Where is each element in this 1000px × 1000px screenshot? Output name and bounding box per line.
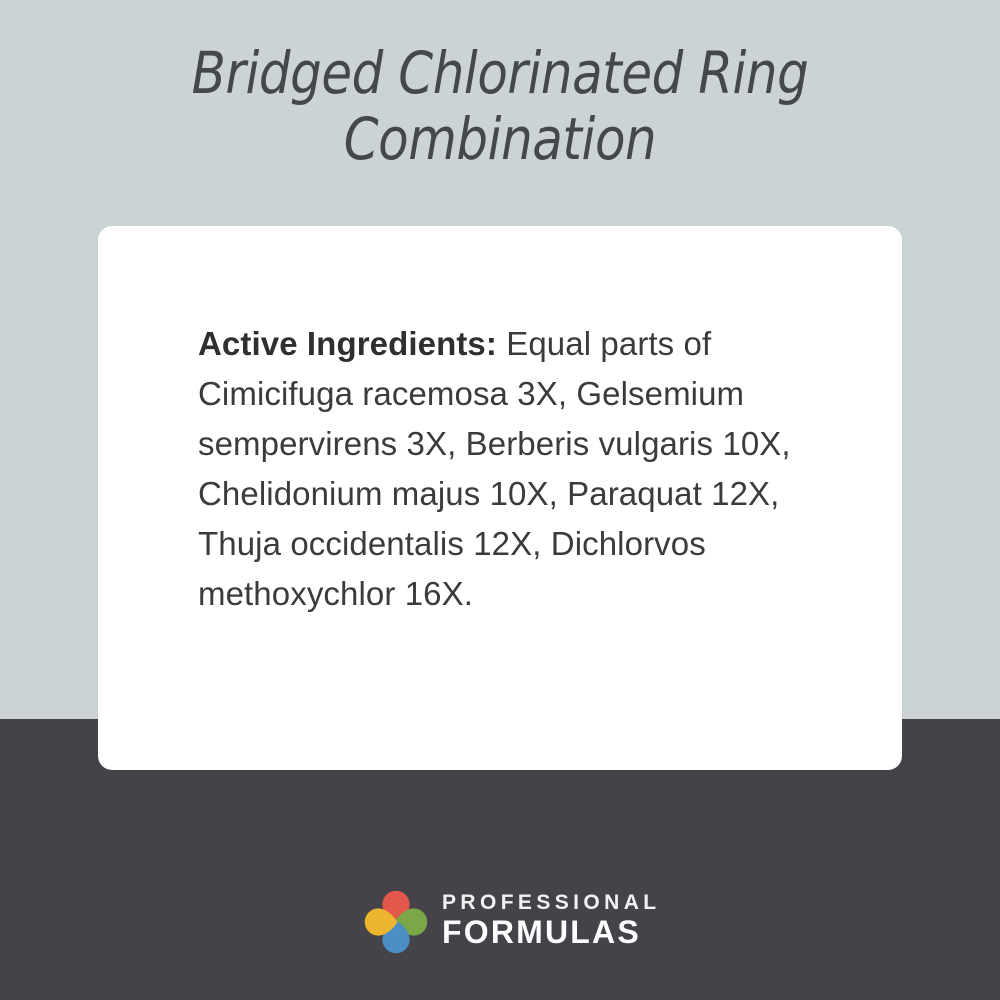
ingredients-text: Active Ingredients: Equal parts of Cimic… (198, 319, 814, 619)
four-petal-flower-logo-icon (362, 888, 430, 956)
brand-wordmark-line-2: FORMULAS (442, 915, 647, 949)
page-title-line-2: Combination (147, 106, 852, 172)
brand-wordmark-line-1: PROFESSIONAL (442, 891, 647, 915)
page-title-line-1: Bridged Chlorinated Ring (147, 40, 852, 106)
product-label-graphic: Bridged Chlorinated Ring Combination Act… (0, 0, 1000, 1000)
ingredients-card: Active Ingredients: Equal parts of Cimic… (98, 226, 902, 770)
active-ingredients-value: Equal parts of Cimicifuga racemosa 3X, G… (198, 325, 791, 612)
page-title: Bridged Chlorinated Ring Combination (147, 40, 852, 172)
brand-wordmark: PROFESSIONAL FORMULAS (442, 891, 647, 949)
active-ingredients-label: Active Ingredients: (198, 325, 497, 362)
brand-logo: PROFESSIONAL FORMULAS (362, 886, 647, 958)
